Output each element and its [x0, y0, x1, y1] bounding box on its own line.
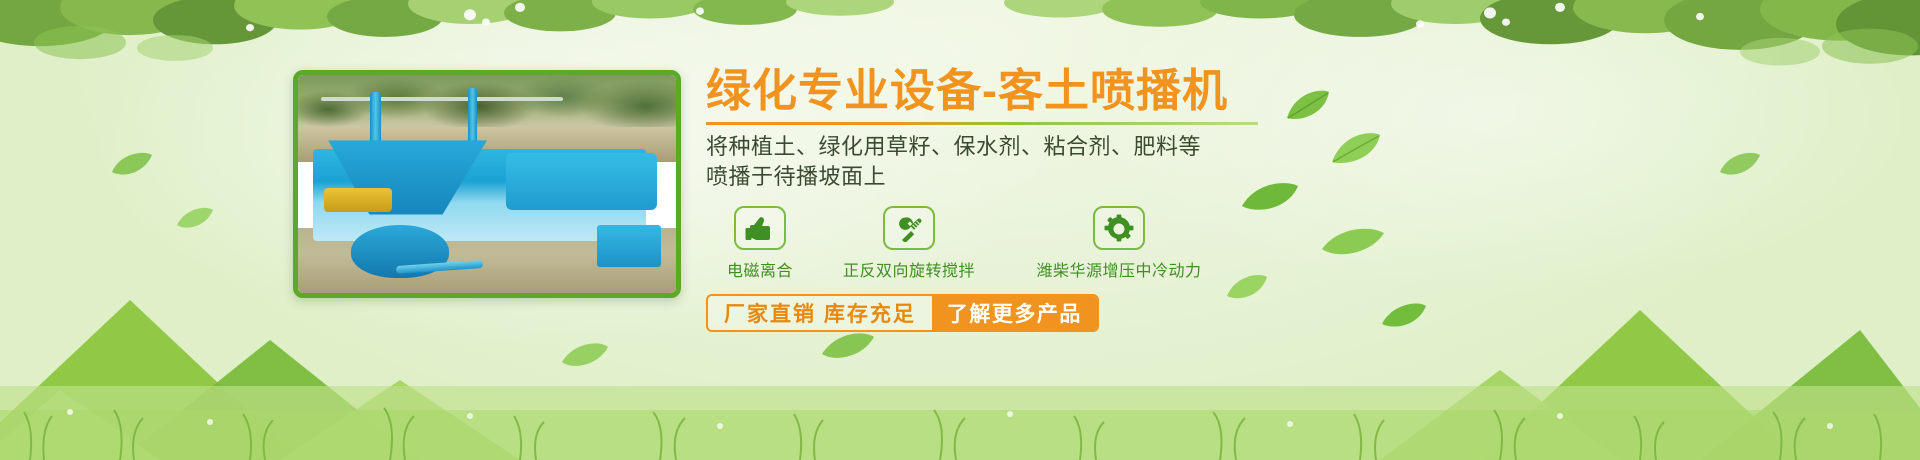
- engine-gear-icon: [1104, 214, 1134, 242]
- feature-icon-box-3: [1093, 206, 1145, 250]
- machine-engine-yellow: [324, 188, 392, 212]
- leaf-icon: [110, 150, 154, 178]
- subtitle-line-2: 喷播于待播坡面上: [706, 162, 1906, 192]
- feature-list: 电磁离合 正反双向旋转搅拌: [706, 206, 1906, 281]
- leaf-icon: [175, 205, 215, 231]
- cta-tagline: 厂家直销 库存充足: [708, 296, 932, 330]
- page-title: 绿化专业设备-客土喷播机: [706, 64, 1906, 117]
- photo-trees: [298, 75, 676, 132]
- promo-banner: 绿化专业设备-客土喷播机 将种植土、绿化用草籽、保水剂、粘合剂、肥料等 喷播于待…: [0, 0, 1920, 460]
- machine-rail: [321, 97, 563, 101]
- feature-icon-box-1: [734, 206, 786, 250]
- title-divider: [706, 122, 1258, 125]
- feature-item-1[interactable]: 电磁离合: [706, 206, 814, 281]
- thumbs-up-icon: [745, 215, 775, 241]
- feature-item-3[interactable]: 潍柴华源增压中冷动力: [1004, 206, 1234, 281]
- grass-decoration: [0, 340, 1920, 460]
- wrench-screwdriver-icon: [894, 214, 924, 242]
- feature-label-1: 电磁离合: [706, 257, 814, 281]
- product-photo-inner: [298, 75, 676, 293]
- machine-tank: [506, 153, 657, 210]
- feature-label-3: 潍柴华源增压中冷动力: [1004, 257, 1234, 281]
- feature-item-2[interactable]: 正反双向旋转搅拌: [814, 206, 1004, 281]
- feature-icon-box-2: [883, 206, 935, 250]
- cta-row: 厂家直销 库存充足 了解更多产品: [706, 294, 1099, 332]
- subtitle-line-1: 将种植土、绿化用草籽、保水剂、粘合剂、肥料等: [706, 132, 1906, 162]
- product-photo: [293, 70, 681, 298]
- machine-control-box: [597, 225, 661, 266]
- banner-content: 绿化专业设备-客土喷播机 将种植土、绿化用草籽、保水剂、粘合剂、肥料等 喷播于待…: [706, 64, 1906, 332]
- learn-more-button[interactable]: 了解更多产品: [932, 296, 1097, 330]
- feature-label-2: 正反双向旋转搅拌: [814, 257, 1004, 281]
